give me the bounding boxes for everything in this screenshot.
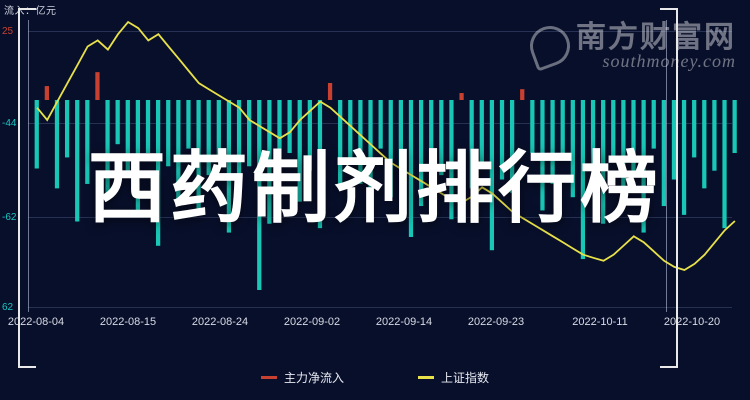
bar-3 bbox=[65, 100, 69, 157]
bar-29 bbox=[328, 83, 332, 100]
x-tick-4: 2022-09-14 bbox=[376, 316, 432, 328]
watermark: 南方财富网 southmoney.com bbox=[576, 22, 736, 70]
watermark-cn: 南方财富网 bbox=[576, 22, 736, 54]
bar-69 bbox=[733, 100, 737, 153]
stock-flow-chart: 流入：亿元 25 -44 -62 62 2022-08-04 2022-08-1… bbox=[0, 0, 750, 400]
bar-8 bbox=[116, 100, 120, 144]
x-tick-5: 2022-09-23 bbox=[468, 316, 524, 328]
x-tick-2: 2022-08-24 bbox=[192, 316, 248, 328]
legend-swatch-main-net-inflow bbox=[261, 376, 277, 379]
legend-label-sse-index: 上证指数 bbox=[441, 369, 489, 386]
bar-34 bbox=[379, 100, 383, 149]
bar-1 bbox=[45, 86, 49, 100]
bar-61 bbox=[652, 100, 656, 149]
x-tick-7: 2022-10-20 bbox=[664, 316, 720, 328]
x-tick-6: 2022-10-11 bbox=[572, 316, 627, 328]
legend-swatch-sse-index bbox=[418, 376, 434, 379]
bar-42 bbox=[459, 93, 463, 100]
watermark-en: southmoney.com bbox=[576, 52, 736, 71]
bar-48 bbox=[520, 89, 524, 100]
bar-15 bbox=[186, 100, 190, 149]
bar-65 bbox=[692, 100, 696, 157]
bar-6 bbox=[95, 72, 99, 100]
page-title: 西药制剂排行榜 bbox=[0, 150, 750, 228]
screenshot-root: 流入：亿元 25 -44 -62 62 2022-08-04 2022-08-1… bbox=[0, 0, 750, 400]
x-tick-0: 2022-08-04 bbox=[8, 316, 64, 328]
x-tick-1: 2022-08-15 bbox=[100, 316, 156, 328]
x-tick-3: 2022-09-02 bbox=[284, 316, 340, 328]
legend-item-sse-index: 上证指数 bbox=[418, 369, 489, 386]
legend-item-main-net-inflow: 主力净流入 bbox=[261, 369, 344, 386]
chart-legend: 主力净流入 上证指数 bbox=[0, 369, 750, 386]
legend-label-main-net-inflow: 主力净流入 bbox=[284, 369, 344, 386]
